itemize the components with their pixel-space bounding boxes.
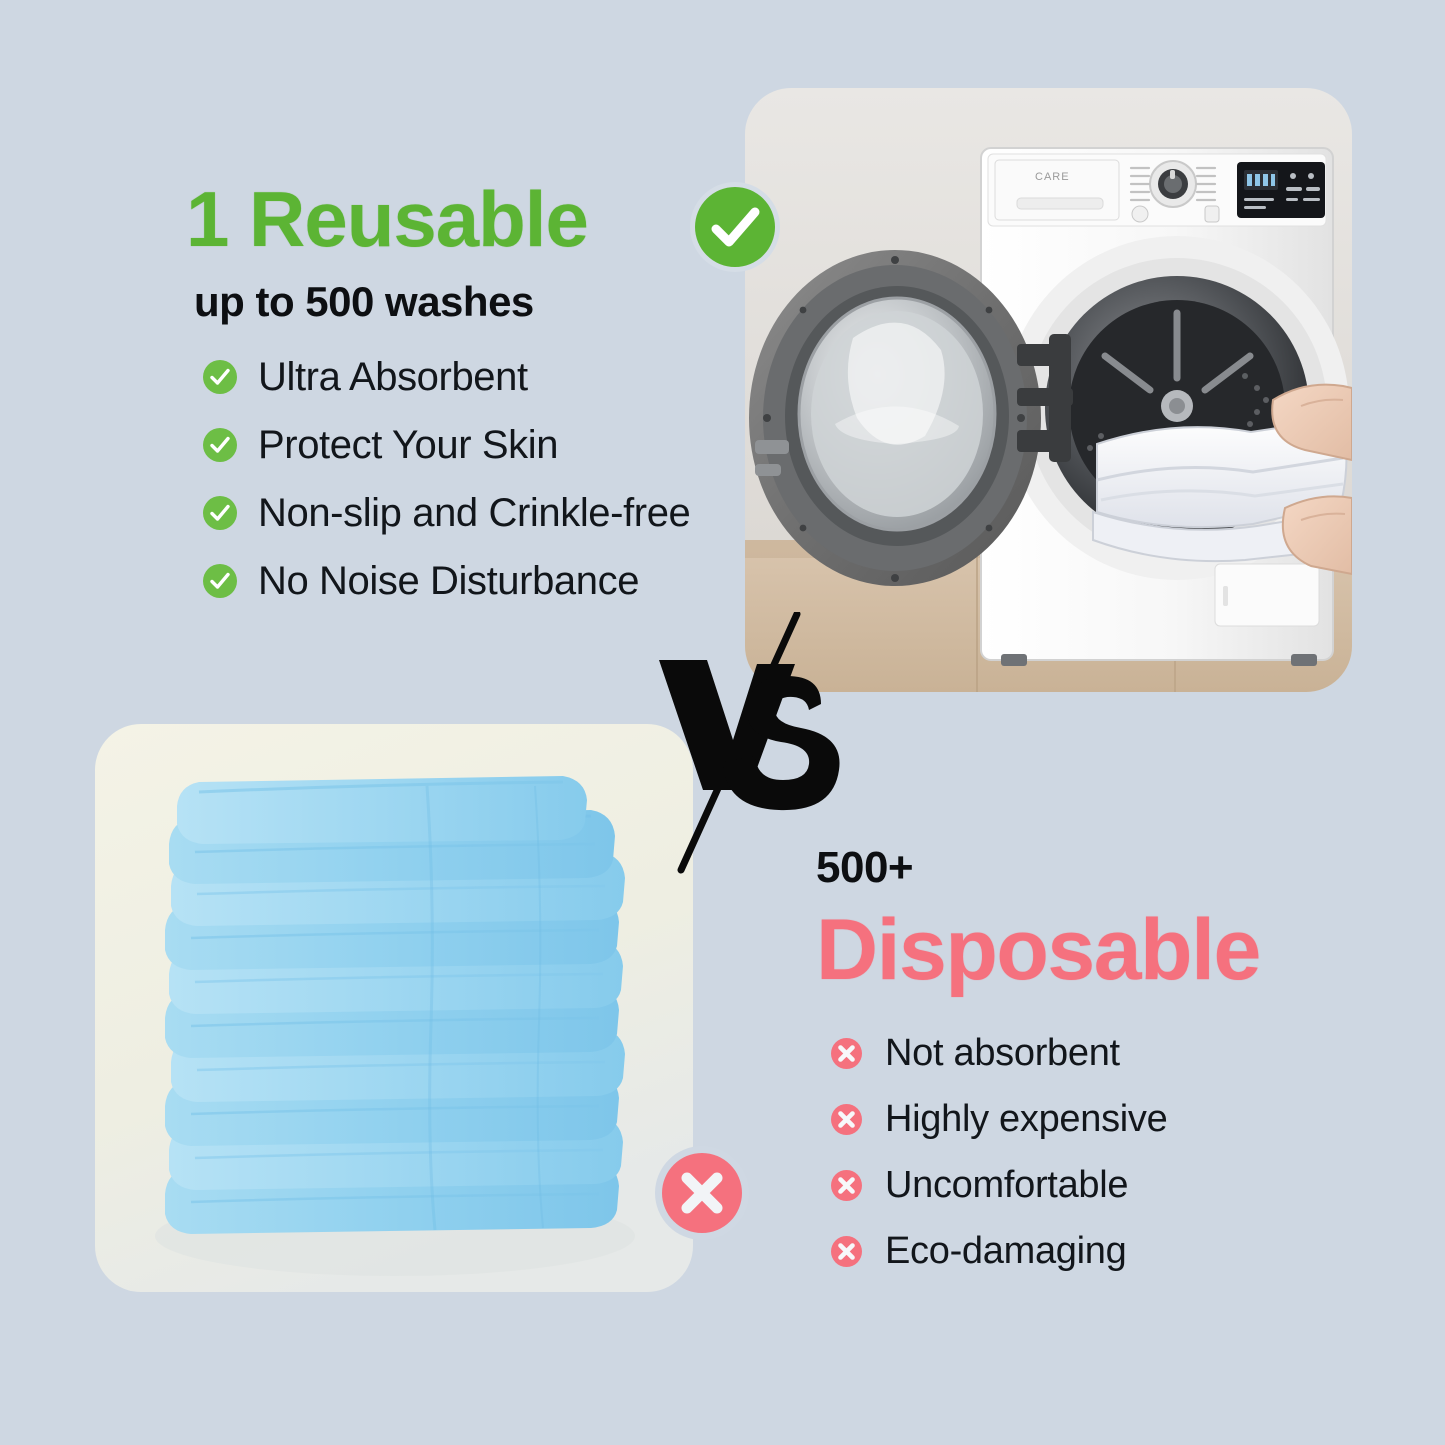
reusable-panel: 1 Reusable up to 500 washes Ultra Absorb… bbox=[186, 176, 726, 626]
green-check-badge-icon bbox=[689, 181, 781, 273]
list-item: Ultra Absorbent bbox=[202, 354, 726, 400]
list-item: No Noise Disturbance bbox=[202, 558, 726, 604]
green-check-icon bbox=[202, 427, 238, 463]
feature-label: Non-slip and Crinkle-free bbox=[258, 490, 690, 536]
feature-label: No Noise Disturbance bbox=[258, 558, 639, 604]
drawback-label: Not absorbent bbox=[885, 1031, 1120, 1075]
pink-cross-icon bbox=[830, 1169, 863, 1202]
drawback-label: Highly expensive bbox=[885, 1097, 1167, 1141]
list-item: Eco-damaging bbox=[830, 1229, 1376, 1273]
disposable-drawback-list: Not absorbent Highly expensive bbox=[830, 1031, 1376, 1273]
list-item: Protect Your Skin bbox=[202, 422, 726, 468]
green-check-icon bbox=[202, 359, 238, 395]
reusable-subtitle: up to 500 washes bbox=[194, 276, 726, 328]
vs-divider-icon bbox=[645, 612, 875, 877]
green-check-icon bbox=[202, 495, 238, 531]
reusable-title: 1 Reusable bbox=[186, 176, 726, 262]
pink-cross-badge-icon bbox=[654, 1145, 750, 1241]
disposable-panel: 500+ Disposable Not absorbent bbox=[816, 843, 1376, 1295]
list-item: Highly expensive bbox=[830, 1097, 1376, 1141]
feature-label: Protect Your Skin bbox=[258, 422, 558, 468]
pink-cross-icon bbox=[830, 1037, 863, 1070]
list-item: Non-slip and Crinkle-free bbox=[202, 490, 726, 536]
svg-text:CARE: CARE bbox=[1035, 171, 1070, 183]
pink-cross-icon bbox=[830, 1235, 863, 1268]
reusable-feature-list: Ultra Absorbent Protect Your Skin bbox=[202, 354, 726, 604]
drawback-label: Eco-damaging bbox=[885, 1229, 1126, 1273]
list-item: Not absorbent bbox=[830, 1031, 1376, 1075]
disposable-count: 500+ bbox=[816, 843, 1376, 893]
disposable-title: Disposable bbox=[816, 903, 1376, 997]
list-item: Uncomfortable bbox=[830, 1163, 1376, 1207]
pink-cross-icon bbox=[830, 1103, 863, 1136]
green-check-icon bbox=[202, 563, 238, 599]
feature-label: Ultra Absorbent bbox=[258, 354, 528, 400]
infographic-canvas: CARE bbox=[0, 0, 1445, 1445]
disposable-pads-photo bbox=[95, 724, 693, 1292]
drawback-label: Uncomfortable bbox=[885, 1163, 1128, 1207]
washing-machine-photo: CARE bbox=[745, 88, 1352, 692]
